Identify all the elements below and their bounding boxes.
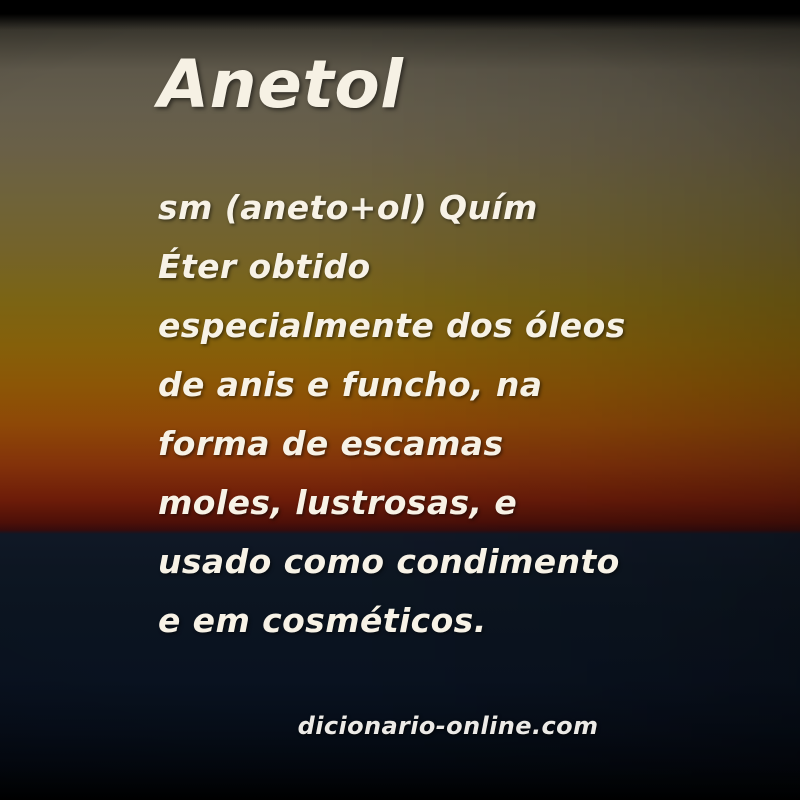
card-content: Anetol sm (aneto+ol) Quím Éter obtido es… <box>0 0 800 800</box>
definition-line: sm (aneto+ol) Quím <box>158 178 698 237</box>
definition-line: de anis e funcho, na <box>158 355 698 414</box>
definition-line: usado como condimento <box>158 532 698 591</box>
definition-block: sm (aneto+ol) Quím Éter obtido especialm… <box>158 178 698 650</box>
site-watermark: dicionario-online.com <box>0 712 800 740</box>
definition-line: Éter obtido <box>158 237 698 296</box>
definition-line: e em cosméticos. <box>158 591 698 650</box>
definition-line: forma de escamas <box>158 414 698 473</box>
site-watermark-text: dicionario-online.com <box>298 712 599 740</box>
definition-card: Anetol sm (aneto+ol) Quím Éter obtido es… <box>0 0 800 800</box>
definition-line: moles, lustrosas, e <box>158 473 698 532</box>
definition-line: especialmente dos óleos <box>158 296 698 355</box>
headword-title: Anetol <box>158 52 403 118</box>
